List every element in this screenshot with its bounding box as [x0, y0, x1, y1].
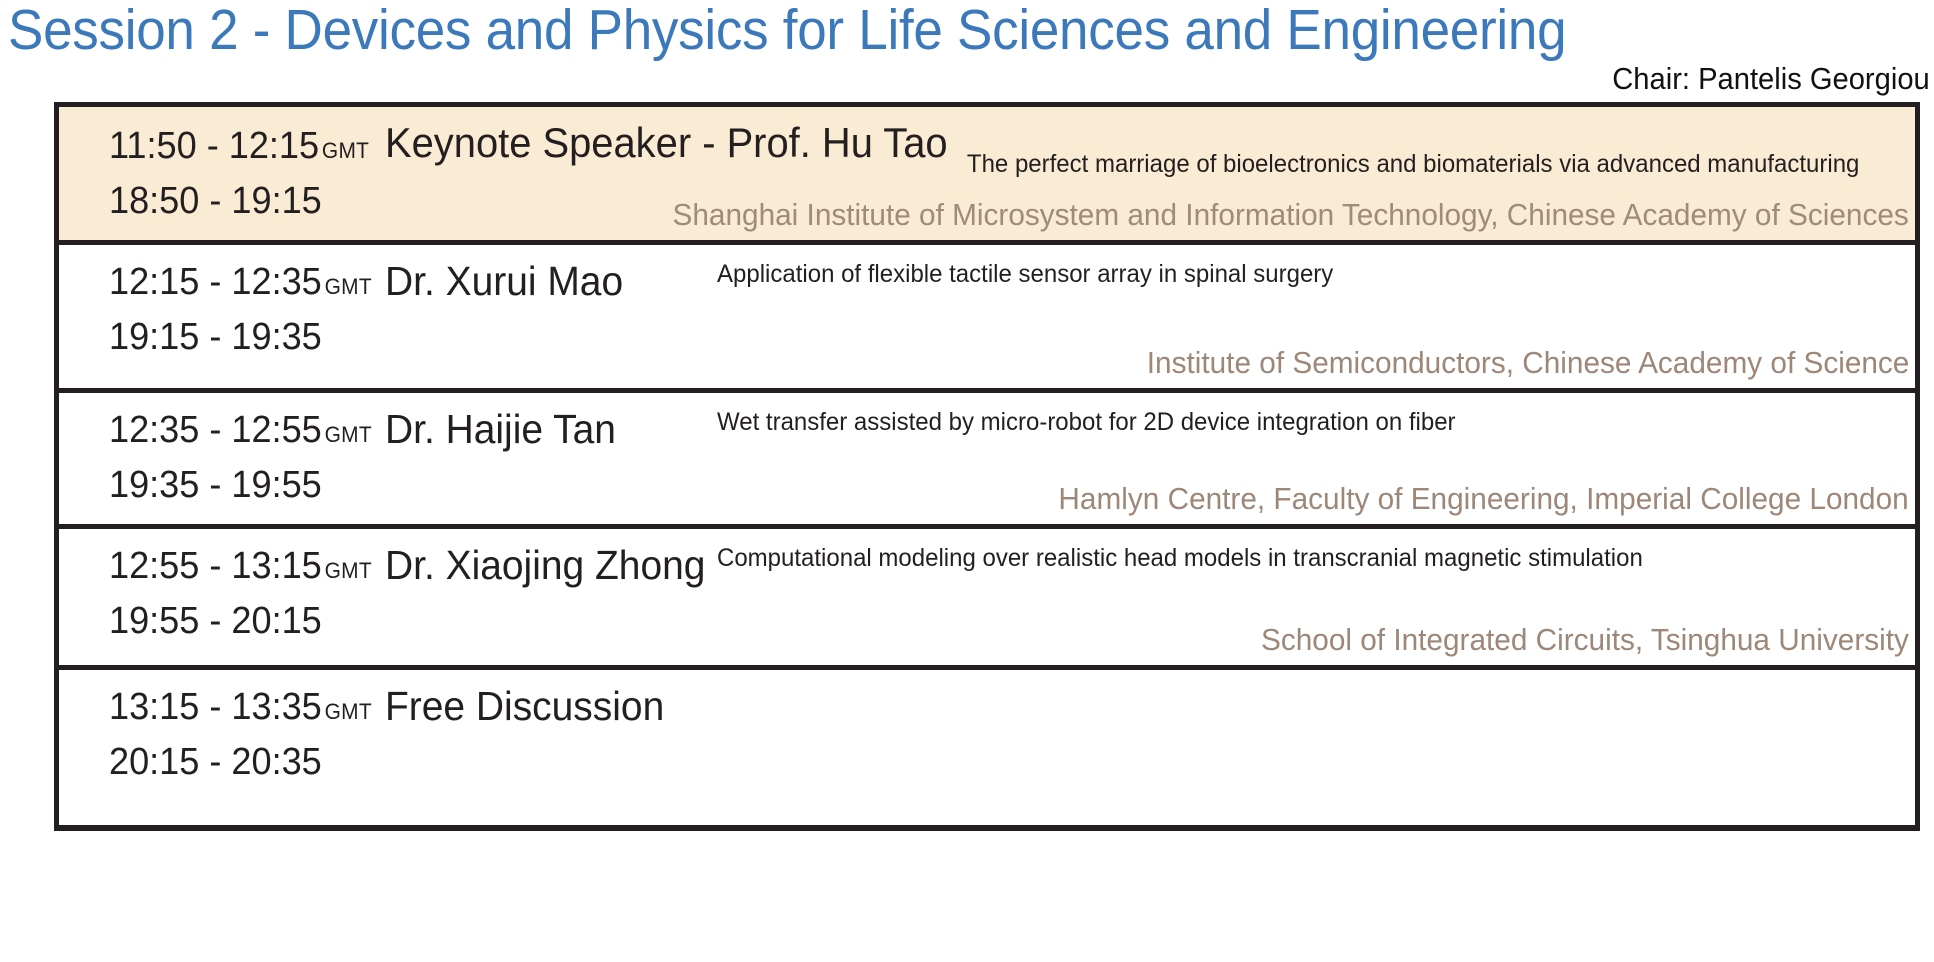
- talk-title: Computational modeling over realistic he…: [717, 543, 1859, 574]
- gmt-label: GMT: [322, 558, 372, 583]
- speaker-name: Dr. Haijie Tan: [385, 403, 695, 455]
- row-time-cell: 12:35 - 12:55GMT 19:35 - 19:55: [59, 393, 381, 524]
- time-local: 18:50 - 19:15: [109, 176, 367, 226]
- affiliation: School of Integrated Circuits, Tsinghua …: [1261, 621, 1909, 659]
- time-gmt: 13:15 - 13:35GMT: [109, 682, 367, 737]
- row-speaker-cell: Dr. Xurui Mao: [381, 245, 717, 388]
- row-speaker-cell: Dr. Xiaojing Zhong: [381, 529, 717, 665]
- row-speaker-cell: Keynote Speaker - Prof. Hu Tao: [381, 107, 717, 240]
- time-gmt: 12:55 - 13:15GMT: [109, 541, 367, 596]
- row-speaker-cell: Free Discussion: [381, 670, 717, 825]
- gmt-label: GMT: [319, 138, 369, 163]
- time-local: 19:35 - 19:55: [109, 460, 367, 510]
- speaker-name: Dr. Xiaojing Zhong: [385, 539, 695, 591]
- speaker-name: Free Discussion: [385, 680, 695, 732]
- row-time-cell: 12:55 - 13:15GMT 19:55 - 20:15: [59, 529, 381, 665]
- time-gmt-value: 11:50 - 12:15: [109, 125, 319, 167]
- row-time-cell: 13:15 - 13:35GMT 20:15 - 20:35: [59, 670, 381, 825]
- row-speaker-cell: Dr. Haijie Tan: [381, 393, 717, 524]
- table-row: 13:15 - 13:35GMT 20:15 - 20:35 Free Disc…: [59, 670, 1915, 825]
- speaker-name: Dr. Xurui Mao: [385, 255, 695, 307]
- table-row: 12:55 - 13:15GMT 19:55 - 20:15 Dr. Xiaoj…: [59, 529, 1915, 670]
- time-local: 19:55 - 20:15: [109, 596, 367, 646]
- table-row: 12:15 - 12:35GMT 19:15 - 19:35 Dr. Xurui…: [59, 245, 1915, 393]
- row-time-cell: 11:50 - 12:15GMT 18:50 - 19:15: [59, 107, 381, 240]
- row-time-cell: 12:15 - 12:35GMT 19:15 - 19:35: [59, 245, 381, 388]
- affiliation: Institute of Semiconductors, Chinese Aca…: [1146, 344, 1909, 382]
- time-local: 19:15 - 19:35: [109, 312, 367, 362]
- row-detail-cell: [717, 670, 1915, 825]
- time-gmt: 11:50 - 12:15GMT: [109, 121, 367, 176]
- schedule-table: 11:50 - 12:15GMT 18:50 - 19:15 Keynote S…: [54, 102, 1920, 831]
- gmt-label: GMT: [322, 274, 372, 299]
- row-detail-cell: The perfect marriage of bioelectronics a…: [717, 107, 1915, 240]
- row-detail-cell: Wet transfer assisted by micro-robot for…: [717, 393, 1915, 524]
- time-local: 20:15 - 20:35: [109, 737, 367, 787]
- talk-title: Wet transfer assisted by micro-robot for…: [717, 407, 1859, 438]
- row-detail-cell: Computational modeling over realistic he…: [717, 529, 1915, 665]
- talk-title: Application of flexible tactile sensor a…: [717, 259, 1859, 290]
- time-gmt: 12:35 - 12:55GMT: [109, 405, 367, 460]
- table-row: 11:50 - 12:15GMT 18:50 - 19:15 Keynote S…: [59, 107, 1915, 245]
- page-title: Session 2 - Devices and Physics for Life…: [8, 0, 1566, 62]
- time-gmt-value: 12:15 - 12:35: [109, 261, 322, 303]
- time-gmt-value: 12:55 - 13:15: [109, 545, 322, 587]
- talk-title: The perfect marriage of bioelectronics a…: [717, 149, 1859, 180]
- time-gmt-value: 12:35 - 12:55: [109, 409, 322, 451]
- row-detail-cell: Application of flexible tactile sensor a…: [717, 245, 1915, 388]
- affiliation: Shanghai Institute of Microsystem and In…: [673, 196, 1909, 234]
- affiliation: Hamlyn Centre, Faculty of Engineering, I…: [1059, 480, 1909, 518]
- session-chair: Chair: Pantelis Georgiou: [1613, 60, 1930, 98]
- time-gmt-value: 13:15 - 13:35: [109, 686, 322, 728]
- table-row: 12:35 - 12:55GMT 19:35 - 19:55 Dr. Haiji…: [59, 393, 1915, 529]
- time-gmt: 12:15 - 12:35GMT: [109, 257, 367, 312]
- session-schedule-slide: Session 2 - Devices and Physics for Life…: [0, 0, 1934, 962]
- gmt-label: GMT: [322, 422, 372, 447]
- speaker-name: Keynote Speaker - Prof. Hu Tao: [385, 117, 695, 169]
- gmt-label: GMT: [322, 699, 372, 724]
